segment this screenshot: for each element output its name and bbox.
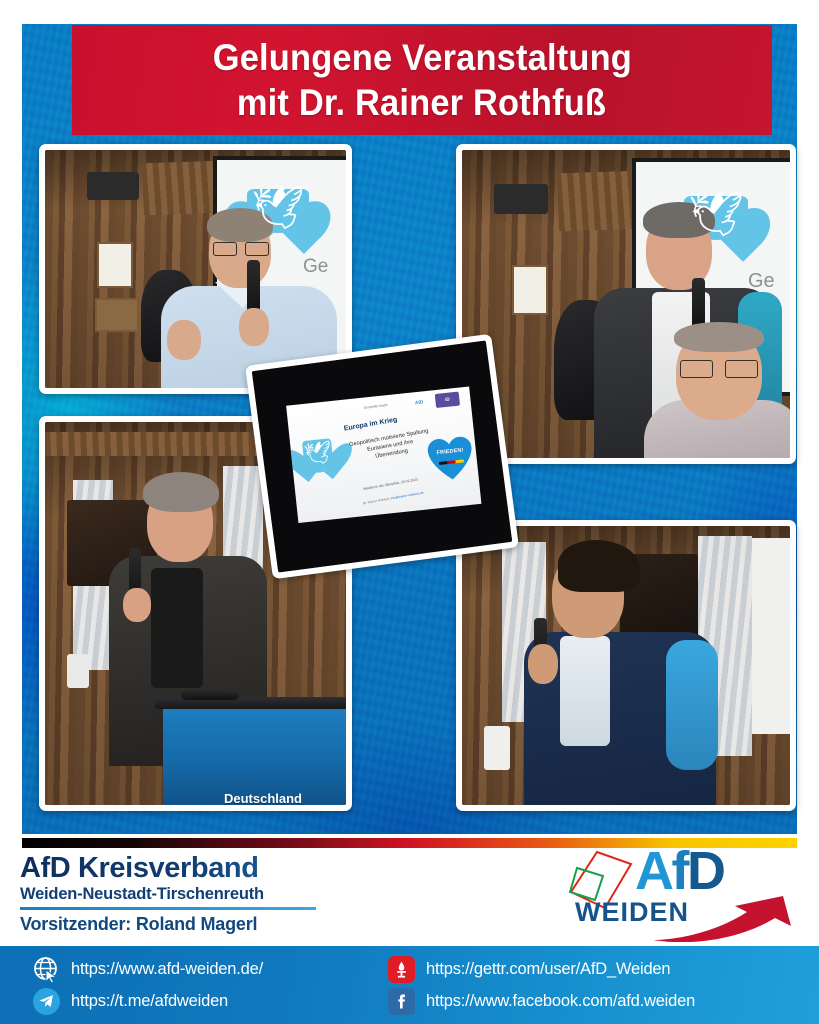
photo-center-inset[interactable]: 🕊 Geopolitik Studie Europa im Krieg Geop… <box>245 334 519 580</box>
brand-name: AfD Kreisverband <box>20 852 440 884</box>
slide-contact-mail: info@rainer-rothfuss.de <box>391 490 425 500</box>
wall-speaker-icon <box>87 172 139 200</box>
link-column-left: https://www.afd-weiden.de/ https://t.me/… <box>33 953 263 1017</box>
person-tshirt <box>151 568 203 688</box>
lectern-label: Deutschland <box>163 791 346 805</box>
telegram-icon <box>33 988 60 1015</box>
link-column-right: https://gettr.com/user/AfD_Weiden https:… <box>388 953 695 1017</box>
poster: Gelungene Veranstaltung mit Dr. Rainer R… <box>0 0 819 1024</box>
person-speaker <box>524 536 724 805</box>
person-glasses <box>213 242 269 256</box>
link-row-facebook[interactable]: https://www.facebook.com/afd.weiden <box>388 985 695 1017</box>
person-hair <box>558 540 640 592</box>
link-facebook-url[interactable]: https://www.facebook.com/afd.weiden <box>426 992 695 1011</box>
flower-vase <box>67 654 89 688</box>
wall-speaker-icon <box>494 184 548 214</box>
title-line-1: Gelungene Veranstaltung <box>212 35 631 80</box>
lectern-microphone <box>181 690 239 700</box>
framed-certificate <box>512 265 548 315</box>
brand-divider <box>20 907 316 910</box>
title-banner: Gelungene Veranstaltung mit Dr. Rainer R… <box>72 25 772 135</box>
dove-heart-logo: 🕊 <box>678 184 754 248</box>
person-hand-right <box>239 308 269 346</box>
facebook-icon <box>388 988 415 1015</box>
person-seated-hair <box>674 322 764 352</box>
slide-contact: Dr. Rainer Rothfuß, info@rainer-rothfuss… <box>363 490 424 505</box>
link-row-telegram[interactable]: https://t.me/afdweiden <box>33 985 263 1017</box>
photo-bottom-right[interactable] <box>456 520 796 811</box>
slide-meta: Weiden in der Oberpfalz, 25.02.2023 <box>363 477 418 491</box>
person-hand <box>528 644 558 684</box>
brand-chairman: Vorsitzender: Roland Magerl <box>20 913 440 935</box>
link-row-website[interactable]: https://www.afd-weiden.de/ <box>33 953 263 985</box>
person-hair <box>143 472 219 512</box>
photo-top-right[interactable]: 🕊 Ge <box>456 144 796 464</box>
person-shirt <box>560 636 610 746</box>
globe-cursor-icon <box>33 956 60 983</box>
afd-weiden-logo: AfD WEIDEN <box>567 846 797 942</box>
slide-kicker: Geopolitik Studie <box>364 403 388 410</box>
brand-region: Weiden-Neustadt-Tirschenreuth <box>20 884 440 904</box>
link-telegram-url[interactable]: https://t.me/afdweiden <box>71 992 228 1011</box>
link-gettr-url[interactable]: https://gettr.com/user/AfD_Weiden <box>426 960 670 979</box>
gettr-icon <box>388 956 415 983</box>
person-blue-sleeve <box>666 640 718 770</box>
photo-top-left[interactable]: 🕊 Ge <box>39 144 352 394</box>
frieden-badge: FRIEDEN! <box>427 436 475 483</box>
flower-vase <box>484 726 510 770</box>
photo-collage: 🕊 Ge <box>22 24 797 834</box>
slide-logo-id: iD <box>435 391 460 408</box>
person-seated-guest <box>644 326 790 458</box>
title-line-2: mit Dr. Rainer Rothfuß <box>237 80 606 125</box>
framed-certificate <box>97 242 133 288</box>
person-hand-left <box>167 320 201 360</box>
dove-heart-logo: 🕊 <box>298 429 338 479</box>
link-row-gettr[interactable]: https://gettr.com/user/AfD_Weiden <box>388 953 695 985</box>
person-hand <box>123 588 151 622</box>
dove-heart-logo: 🕊 <box>241 178 315 240</box>
link-website-url[interactable]: https://www.afd-weiden.de/ <box>71 960 263 979</box>
framed-picture <box>95 298 139 332</box>
person-seated-glasses <box>680 360 758 378</box>
whiteboard <box>752 538 790 734</box>
slide-contact-label: Dr. Rainer Rothfuß, <box>363 496 391 505</box>
presentation-slide: 🕊 Geopolitik Studie Europa im Krieg Geop… <box>286 386 481 522</box>
slide-logo-afd: AfD <box>408 394 431 409</box>
afd-weiden-subtitle: WEIDEN <box>575 898 689 926</box>
lectern: Deutschland <box>163 704 346 805</box>
contact-link-bar: https://www.afd-weiden.de/ https://t.me/… <box>0 946 819 1024</box>
footer-brand: AfD Kreisverband Weiden-Neustadt-Tirsche… <box>20 852 440 935</box>
slide-title: Europa im Krieg <box>344 415 398 431</box>
